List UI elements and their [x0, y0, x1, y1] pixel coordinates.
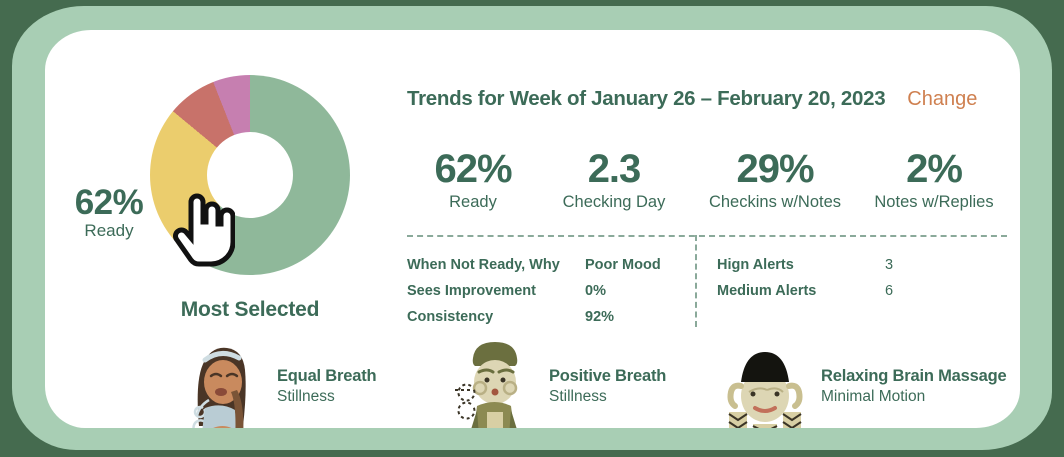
table-row: Hign Alerts 3 — [717, 252, 967, 278]
app-screen: 62% Ready Most Selected Trends for Week … — [0, 0, 1064, 457]
head-massage-illustration — [719, 330, 811, 428]
exercise-text: Relaxing Brain Massage Minimal Motion — [821, 365, 1006, 406]
table-row: Medium Alerts 6 — [717, 278, 967, 304]
kpi-checking-day: 2.3 Checking Day — [539, 148, 689, 212]
donut-center-value: 62% — [55, 185, 163, 220]
exercise-subtitle: Stillness — [277, 388, 376, 406]
exercise-text: Equal Breath Stillness — [277, 365, 376, 406]
detail-value: 6 — [885, 278, 893, 304]
exercise-text: Positive Breath Stillness — [549, 365, 666, 406]
exercise-subtitle: Minimal Motion — [821, 388, 1006, 406]
detail-key: When Not Ready, Why — [407, 252, 585, 278]
details-left-table: When Not Ready, Why Poor Mood Sees Impro… — [407, 252, 677, 330]
table-row: When Not Ready, Why Poor Mood — [407, 252, 677, 278]
detail-key: Hign Alerts — [717, 252, 885, 278]
exercise-title: Equal Breath — [277, 367, 376, 386]
detail-value: 92% — [585, 304, 614, 330]
kpi-value: 29% — [689, 148, 861, 190]
table-row: Consistency 92% — [407, 304, 677, 330]
donut-center-sublabel: Ready — [55, 220, 163, 243]
kpi-row: 62% Ready 2.3 Checking Day 29% Checkins … — [407, 148, 1007, 212]
detail-key: Consistency — [407, 304, 585, 330]
kpi-value: 62% — [407, 148, 539, 190]
detail-value: Poor Mood — [585, 252, 661, 278]
details-right-table: Hign Alerts 3 Medium Alerts 6 — [717, 252, 967, 304]
kpi-label: Checkins w/Notes — [689, 193, 861, 212]
detail-key: Medium Alerts — [717, 278, 885, 304]
donut-hole — [207, 132, 293, 218]
table-row: Sees Improvement 0% — [407, 278, 677, 304]
donut-center-label: 62% Ready — [55, 185, 163, 243]
vertical-divider — [695, 235, 697, 327]
change-link[interactable]: Change — [907, 88, 977, 111]
list-item[interactable]: Positive Breath Stillness — [447, 330, 719, 428]
detail-value: 3 — [885, 252, 893, 278]
exercise-list: Equal Breath Stillness — [175, 330, 1015, 428]
girl-breathing-illustration — [175, 330, 267, 428]
dashboard-card: 62% Ready Most Selected Trends for Week … — [45, 30, 1020, 428]
kpi-notes-with-replies: 2% Notes w/Replies — [861, 148, 1007, 212]
kpi-value: 2% — [861, 148, 1007, 190]
kpi-label: Checking Day — [539, 193, 689, 212]
kpi-ready: 62% Ready — [407, 148, 539, 212]
boy-breathing-illustration — [447, 330, 539, 428]
horizontal-divider — [407, 235, 1007, 237]
donut-caption: Most Selected — [150, 298, 350, 322]
detail-value: 0% — [585, 278, 606, 304]
exercise-title: Relaxing Brain Massage — [821, 367, 1006, 386]
exercise-title: Positive Breath — [549, 367, 666, 386]
trends-header: Trends for Week of January 26 – February… — [407, 87, 977, 111]
page-title: Trends for Week of January 26 – February… — [407, 87, 885, 111]
list-item[interactable]: Equal Breath Stillness — [175, 330, 447, 428]
list-item[interactable]: Relaxing Brain Massage Minimal Motion — [719, 330, 1015, 428]
kpi-value: 2.3 — [539, 148, 689, 190]
donut-chart[interactable] — [150, 75, 350, 275]
detail-key: Sees Improvement — [407, 278, 585, 304]
kpi-checkins-with-notes: 29% Checkins w/Notes — [689, 148, 861, 212]
kpi-label: Ready — [407, 193, 539, 212]
kpi-label: Notes w/Replies — [861, 193, 1007, 212]
exercise-subtitle: Stillness — [549, 388, 666, 406]
